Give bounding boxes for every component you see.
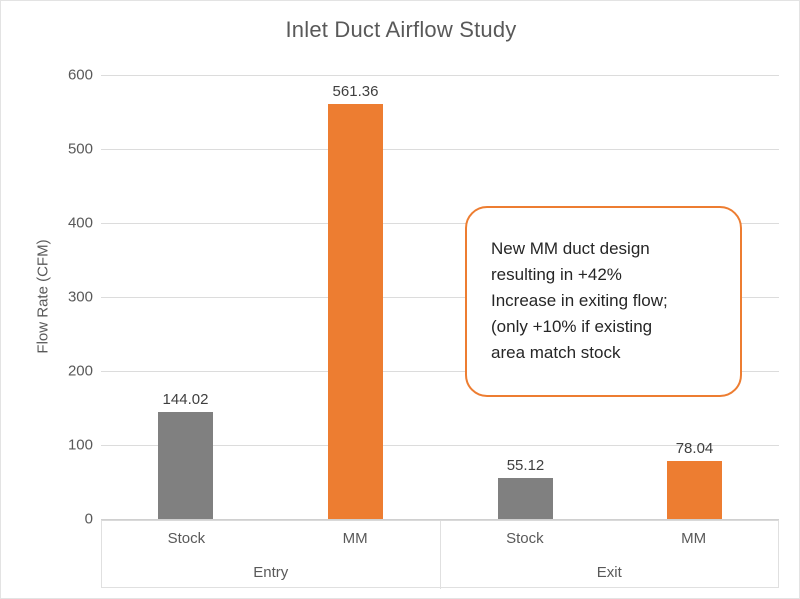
y-tick-label: 400 [13,215,93,232]
chart-container: Inlet Duct Airflow Study Flow Rate (CFM)… [0,0,800,599]
category-axis-row-categories: Stock MM Stock MM [102,521,778,555]
axis-label-exit-stock: Stock [441,521,610,555]
axis-label-exit-mm: MM [609,521,778,555]
category-axis-row-groups: Entry Exit [102,555,778,589]
axis-label-entry-mm: MM [271,521,441,555]
bar-label-exit-stock: 55.12 [478,457,573,474]
annotation-line: resulting in +42% [491,262,740,288]
bar-exit-stock[interactable] [498,478,553,519]
bar-entry-stock[interactable] [158,412,213,519]
y-tick-label: 600 [13,67,93,84]
gridline [101,149,779,150]
annotation-line: Increase in exiting flow; [491,288,740,314]
bar-label-entry-stock: 144.02 [138,391,233,408]
annotation-line: New MM duct design [491,236,740,262]
y-axis-tick-labels: 600 500 400 300 200 100 0 [7,75,93,519]
bar-exit-mm[interactable] [667,461,722,519]
chart-title: Inlet Duct Airflow Study [1,17,800,43]
axis-label-entry-stock: Stock [102,521,271,555]
bar-label-entry-mm: 561.36 [308,83,403,100]
annotation-line: area match stock [491,340,740,366]
bar-label-exit-mm: 78.04 [647,440,742,457]
bar-entry-mm[interactable] [328,104,383,519]
y-tick-label: 200 [13,363,93,380]
y-tick-label: 0 [13,511,93,528]
y-tick-label: 500 [13,141,93,158]
gridline [101,75,779,76]
y-tick-label: 300 [13,289,93,306]
y-tick-label: 100 [13,437,93,454]
axis-group-label-exit: Exit [441,555,779,589]
category-axis: Stock MM Stock MM Entry Exit [101,520,779,588]
annotation-callout: New MM duct design resulting in +42% Inc… [465,206,742,397]
annotation-line: (only +10% if existing [491,314,740,340]
axis-group-label-entry: Entry [102,555,441,589]
